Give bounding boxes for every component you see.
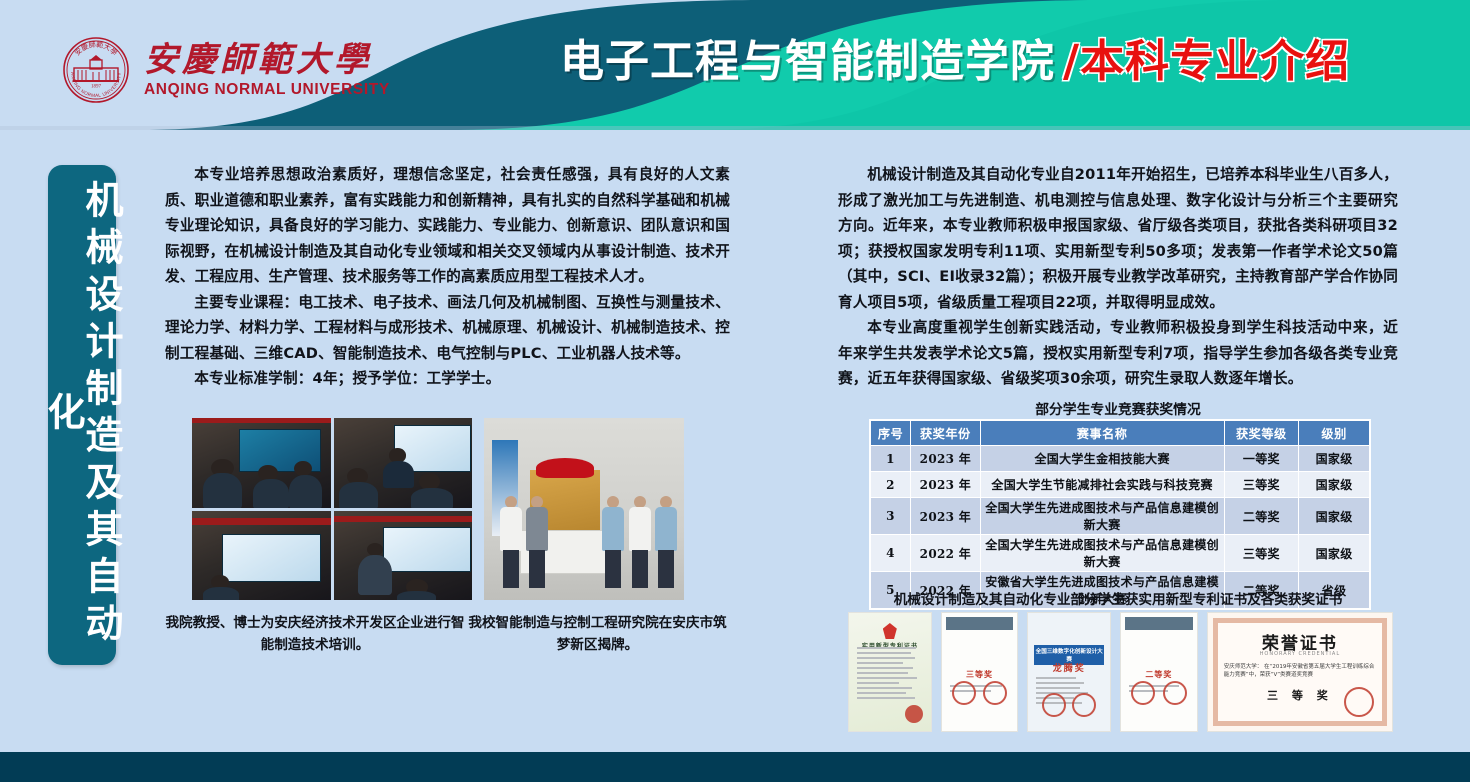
university-logo-block: 1897 安慶師範大學 ANQING NORMAL UNIVERSITY 安慶師… bbox=[62, 36, 390, 104]
right-paragraph-2: 本专业高度重视学生创新实践活动，专业教师积极投身到学生科技活动中来，近年来学生共… bbox=[838, 315, 1398, 392]
training-photo-1 bbox=[192, 418, 331, 508]
cell-no: 3 bbox=[871, 498, 911, 535]
th-rank: 级别 bbox=[1299, 421, 1370, 446]
cell-year: 2023 年 bbox=[911, 446, 981, 472]
photo-collage bbox=[192, 418, 684, 600]
th-level: 获奖等级 bbox=[1224, 421, 1299, 446]
right-column-text: 机械设计制造及其自动化专业自2011年开始招生，已培养本科毕业生八百多人，形成了… bbox=[838, 162, 1398, 392]
person-3 bbox=[602, 496, 624, 588]
certificate-award-2: 二等奖 bbox=[1120, 612, 1198, 732]
cell-year: 2022 年 bbox=[911, 535, 981, 572]
page-title-accent: /本科专业介绍 bbox=[1063, 36, 1350, 87]
photo-caption-1: 我院教授、博士为安庆经济技术开发区企业进行智能制造技术培训。 bbox=[165, 612, 465, 656]
certificate-competition: 全国三维数字化创新设计大赛 龙腾奖 bbox=[1027, 612, 1111, 732]
university-name-block: 安慶師範大學 ANQING NORMAL UNIVERSITY bbox=[144, 43, 390, 100]
cell-level: 二等奖 bbox=[1224, 498, 1299, 535]
certificate-header-bar bbox=[1125, 617, 1193, 630]
svg-text:1897: 1897 bbox=[91, 85, 102, 90]
patent-emblem-icon bbox=[883, 623, 897, 639]
table-row: 2 2023 年 全国大学生节能减排社会实践与科技竞赛 三等奖 国家级 bbox=[871, 472, 1370, 498]
red-seal-icon bbox=[1042, 693, 1066, 717]
training-photo-3 bbox=[192, 511, 331, 601]
cell-rank: 国家级 bbox=[1299, 498, 1370, 535]
training-photo-grid bbox=[192, 418, 472, 600]
table-row: 3 2023 年 全国大学生先进成图技术与产品信息建模创新大赛 二等奖 国家级 bbox=[871, 498, 1370, 535]
person-2 bbox=[526, 496, 548, 588]
red-seal-icon bbox=[1131, 681, 1155, 705]
certificate-prize: 龙腾奖 bbox=[1028, 661, 1110, 674]
cell-year: 2023 年 bbox=[911, 472, 981, 498]
th-name: 赛事名称 bbox=[980, 421, 1224, 446]
person-4 bbox=[629, 496, 651, 588]
certificate-honor: 荣誉证书 HONORARY CREDENTIAL 安庆师范大学： 在“2019年… bbox=[1207, 612, 1393, 732]
plaque-red-ribbon bbox=[536, 458, 594, 478]
cell-name: 全国大学生节能减排社会实践与科技竞赛 bbox=[980, 472, 1224, 498]
left-paragraph-2: 主要专业课程：电工技术、电子技术、画法几何及机械制图、互换性与测量技术、理论力学… bbox=[165, 290, 730, 367]
photo-captions: 我院教授、博士为安庆经济技术开发区企业进行智能制造技术培训。 我校智能制造与控制… bbox=[165, 612, 730, 656]
footer-bar bbox=[0, 752, 1470, 782]
left-paragraph-1: 本专业培养思想政治素质好，理想信念坚定，社会责任感强，具有良好的人文素质、职业道… bbox=[165, 162, 730, 290]
red-seal-icon bbox=[983, 681, 1007, 705]
right-paragraph-1: 机械设计制造及其自动化专业自2011年开始招生，已培养本科毕业生八百多人，形成了… bbox=[838, 162, 1398, 315]
unveiling-ceremony-photo bbox=[484, 418, 684, 600]
certificate-award-1: 三等奖 bbox=[941, 612, 1019, 732]
major-name-tab: 机械设计制造及其自动化 bbox=[48, 165, 116, 665]
page-header: 1897 安慶師範大學 ANQING NORMAL UNIVERSITY 安慶師… bbox=[0, 0, 1470, 130]
certificate-gallery: 实用新型专利证书 三等奖 全国三维数字化创新设计大赛 龙腾奖 bbox=[848, 612, 1393, 732]
university-name-en: ANQING NORMAL UNIVERSITY bbox=[144, 81, 390, 99]
left-column-text: 本专业培养思想政治素质好，理想信念坚定，社会责任感强，具有良好的人文素质、职业道… bbox=[165, 162, 730, 392]
red-seal-icon bbox=[1072, 693, 1096, 717]
cell-name: 全国大学生先进成图技术与产品信息建模创新大赛 bbox=[980, 498, 1224, 535]
certificate-body: 安庆师范大学： 在“2019年安徽省第五届大学生工程训练综合能力竞赛”中，荣获“… bbox=[1224, 663, 1376, 679]
cell-level: 三等奖 bbox=[1224, 535, 1299, 572]
person-1 bbox=[500, 496, 522, 588]
cell-level: 一等奖 bbox=[1224, 446, 1299, 472]
certificate-body-lines bbox=[857, 647, 923, 702]
red-seal-icon bbox=[1344, 687, 1374, 717]
cell-year: 2023 年 bbox=[911, 498, 981, 535]
cell-no: 1 bbox=[871, 446, 911, 472]
cell-no: 2 bbox=[871, 472, 911, 498]
page-title-main: 电子工程与智能制造学院 bbox=[560, 36, 1055, 87]
university-name-cn: 安慶師範大學 bbox=[144, 43, 390, 79]
cell-name: 全国大学生金相技能大赛 bbox=[980, 446, 1224, 472]
th-no: 序号 bbox=[871, 421, 911, 446]
certificate-header-bar bbox=[946, 617, 1014, 630]
person-5 bbox=[655, 496, 677, 588]
training-photo-4 bbox=[334, 511, 473, 601]
cell-level: 三等奖 bbox=[1224, 472, 1299, 498]
award-table-title: 部分学生专业竞赛获奖情况 bbox=[838, 398, 1398, 418]
cell-name: 全国大学生先进成图技术与产品信息建模创新大赛 bbox=[980, 535, 1224, 572]
certificates-title: 机械设计制造及其自动化专业部分学生获实用新型专利证书及各类获奖证书 bbox=[838, 588, 1398, 608]
table-row: 4 2022 年 全国大学生先进成图技术与产品信息建模创新大赛 三等奖 国家级 bbox=[871, 535, 1370, 572]
page-title: 电子工程与智能制造学院/本科专业介绍 bbox=[560, 40, 1350, 84]
red-seal-icon bbox=[952, 681, 976, 705]
cell-rank: 国家级 bbox=[1299, 446, 1370, 472]
left-paragraph-3: 本专业标准学制：4年；授予学位：工学学士。 bbox=[165, 366, 730, 392]
table-header-row: 序号 获奖年份 赛事名称 获奖等级 级别 bbox=[871, 421, 1370, 446]
photo-caption-2: 我校智能制造与控制工程研究院在安庆市筑梦新区揭牌。 bbox=[465, 612, 730, 656]
red-seal-icon bbox=[905, 705, 923, 723]
certificate-prize: 三等奖 bbox=[942, 669, 1018, 680]
university-seal-icon: 1897 安慶師範大學 ANQING NORMAL UNIVERSITY bbox=[62, 36, 130, 104]
major-name-label: 机械设计制造及其自动化 bbox=[44, 165, 120, 665]
cell-rank: 国家级 bbox=[1299, 472, 1370, 498]
poster-page: 1897 安慶師範大學 ANQING NORMAL UNIVERSITY 安慶師… bbox=[0, 0, 1470, 782]
award-table: 序号 获奖年份 赛事名称 获奖等级 级别 1 2023 年 全国大学生金相技能大… bbox=[870, 420, 1370, 609]
th-year: 获奖年份 bbox=[911, 421, 981, 446]
certificate-subheading: HONORARY CREDENTIAL bbox=[1208, 651, 1392, 657]
cell-rank: 国家级 bbox=[1299, 535, 1370, 572]
certificate-patent: 实用新型专利证书 bbox=[848, 612, 932, 732]
cell-no: 4 bbox=[871, 535, 911, 572]
red-seal-icon bbox=[1163, 681, 1187, 705]
training-photo-2 bbox=[334, 418, 473, 508]
certificate-prize: 二等奖 bbox=[1121, 669, 1197, 680]
table-row: 1 2023 年 全国大学生金相技能大赛 一等奖 国家级 bbox=[871, 446, 1370, 472]
